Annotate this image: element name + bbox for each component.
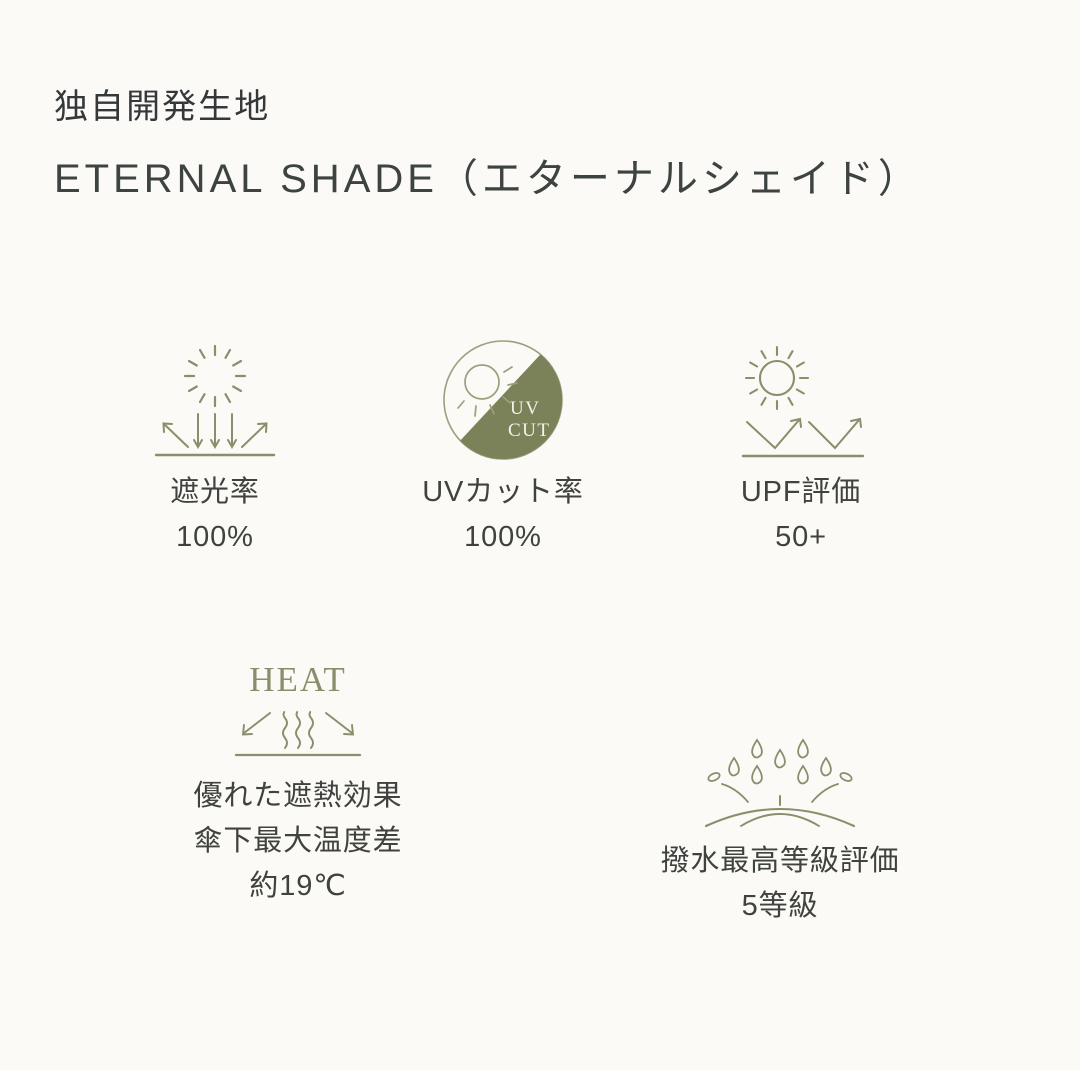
feature-value-upf: 50+: [775, 515, 827, 560]
feature-value-shading: 100%: [176, 515, 254, 560]
upf-rating-icon: [735, 330, 867, 470]
heading-block: 独自開発生地 ETERNAL SHADE（エターナルシェイド）: [54, 86, 922, 203]
feature-label-shading: 遮光率: [170, 470, 260, 515]
uv-badge-line2: CUT: [508, 420, 551, 441]
feature-label-heat-1: 優れた遮熱効果: [193, 774, 402, 819]
fabric-spec-panel: 独自開発生地 ETERNAL SHADE（エターナルシェイド）: [0, 0, 1080, 1070]
shading-rate-icon: [150, 330, 280, 470]
page-title: ETERNAL SHADE（エターナルシェイド）: [54, 155, 922, 203]
feature-value-heat: 約19℃: [249, 864, 346, 909]
feature-heat-shield: HEAT 優れた遮熱効果 傘下最大温度差 約19℃: [148, 648, 448, 909]
feature-uv-cut: UV CUT UVカット率 100%: [353, 330, 653, 560]
feature-label-heat-2: 傘下最大温度差: [193, 819, 402, 864]
feature-label-uvcut: UVカット率: [422, 470, 584, 515]
feature-label-upf: UPF評価: [741, 470, 861, 515]
feature-water-repellent: 撥水最高等級評価 5等級: [630, 700, 930, 929]
uv-badge-line1: UV: [510, 398, 540, 419]
feature-value-water: 5等級: [742, 884, 819, 929]
feature-label-water: 撥水最高等級評価: [661, 839, 900, 884]
page-eyebrow: 独自開発生地: [54, 86, 922, 129]
features-top-row: 遮光率 100%: [0, 330, 1080, 560]
uv-cut-icon: UV CUT: [440, 330, 566, 470]
feature-value-uvcut: 100%: [464, 515, 542, 560]
heat-shield-icon: HEAT: [228, 648, 368, 768]
feature-shading-rate: 遮光率 100%: [65, 330, 365, 560]
water-repellent-icon: [700, 700, 860, 835]
feature-upf-rating: UPF評価 50+: [651, 330, 951, 560]
heat-word: HEAT: [249, 660, 346, 699]
